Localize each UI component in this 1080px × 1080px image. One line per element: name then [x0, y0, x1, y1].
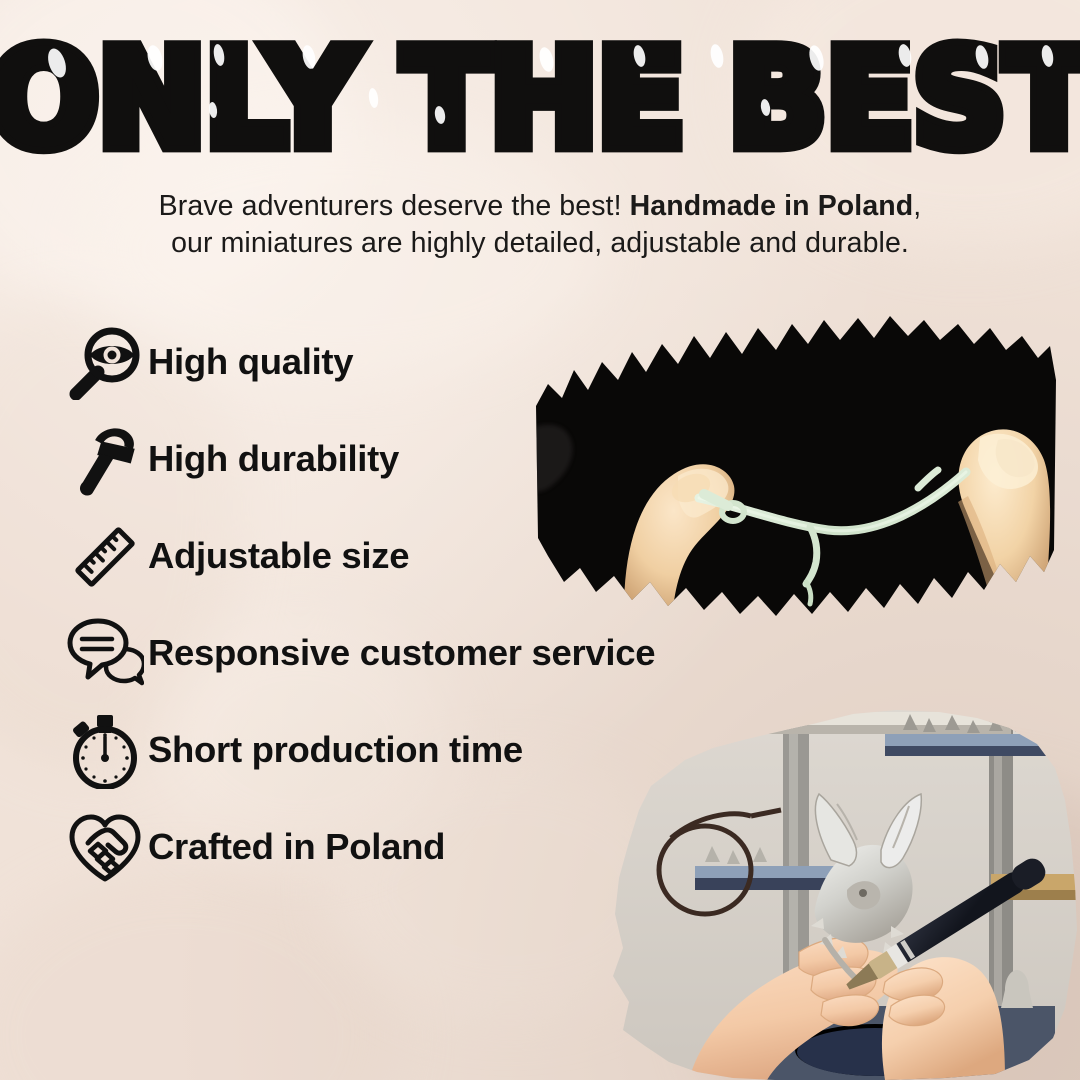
hammer-icon: [62, 423, 148, 497]
magnifier-eye-icon: [62, 326, 148, 400]
subtitle-line1: Brave adventurers deserve the best! Hand…: [159, 190, 922, 222]
feature-label: Adjustable size: [148, 538, 409, 575]
promo-graphic: ONLY THE BEST Brave adventurers deserve …: [0, 0, 1080, 1080]
speech-bubbles-icon: [62, 617, 148, 691]
page-title: ONLY THE BEST: [0, 32, 1080, 166]
feature-label: Short production time: [148, 732, 523, 769]
feature-label: High quality: [148, 344, 353, 381]
subtitle-line2: our miniatures are highly detailed, adju…: [171, 227, 909, 259]
feature-label: Crafted in Poland: [148, 829, 445, 866]
subtitle: Brave adventurers deserve the best! Hand…: [0, 188, 1080, 262]
stopwatch-icon: [62, 713, 148, 789]
heart-handshake-icon: [62, 811, 148, 885]
feature-label: High durability: [148, 441, 399, 478]
feature-label: Responsive customer service: [148, 635, 655, 672]
flexible-miniature-photo: [528, 310, 1058, 620]
painting-workshop-photo: [585, 690, 1080, 1080]
title-container: ONLY THE BEST: [0, 38, 1080, 160]
feature-row: Responsive customer service: [62, 617, 782, 690]
ruler-icon: [62, 520, 148, 594]
